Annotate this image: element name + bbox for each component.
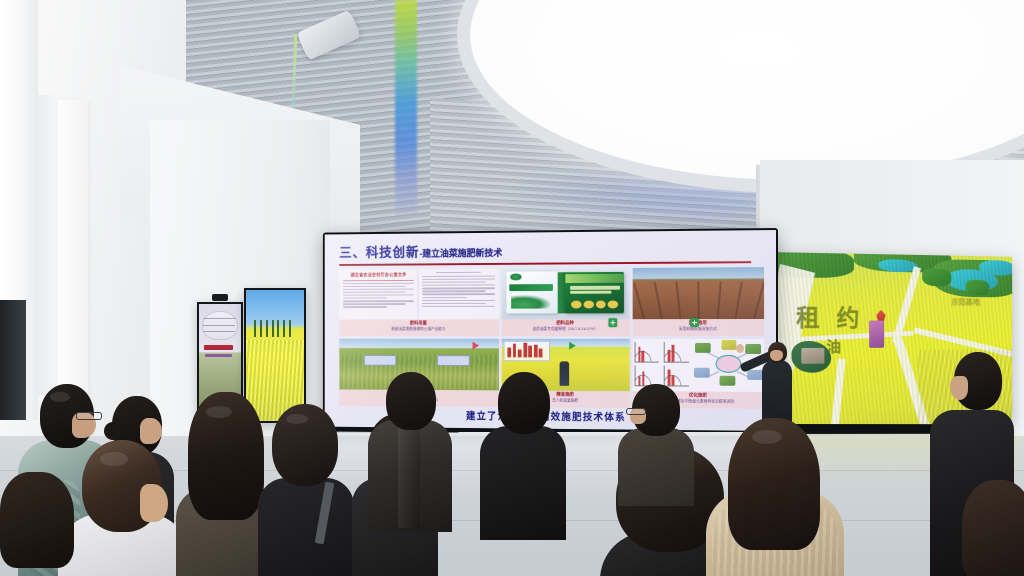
exhibition-hall-scene: 租 约 油 示范基地 三、科技创新-建立油菜施肥新技术 (0, 0, 1024, 576)
audience-member-11 (706, 418, 844, 576)
arrow-right-icon (473, 342, 480, 350)
audience-12-face (950, 376, 968, 400)
audience-member-8 (480, 372, 566, 540)
slide-panel-policy-document: 湖北省农业农村厅办公室文件 (339, 268, 498, 336)
audience-member-13 (962, 480, 1024, 576)
panel-caption: 采用机械条施深施方式 (632, 326, 764, 332)
field-character-2: 约 (837, 299, 860, 334)
presenter-face (770, 350, 783, 361)
audience-2-hair-bun (104, 422, 122, 440)
mini-chart-1 (635, 342, 659, 363)
display-camera-icon (212, 294, 228, 301)
audience-7-head (386, 372, 436, 430)
audience-member-10 (618, 384, 694, 504)
slide-title-sub: -建立油菜施肥新技术 (419, 248, 502, 259)
audience-14-head (0, 472, 74, 568)
fertilizer-bag-green (565, 272, 624, 313)
info-board-header (202, 311, 237, 341)
audience-10-jacket (618, 428, 694, 506)
plus-connector-icon (608, 318, 617, 327)
policy-document-image: 湖北省农业农村厅办公室文件 (339, 268, 498, 319)
arrow-right-icon (569, 342, 576, 350)
fertilizer-bag-image (501, 268, 629, 320)
slide-title: 三、科技创新-建立油菜施肥新技术 (339, 238, 764, 261)
field-character-1: 租 (796, 299, 819, 334)
panel-caption: 根据油菜需肥规律和土壤产出能力 (339, 326, 498, 332)
plus-connector-icon (690, 318, 699, 327)
audience-8-top (480, 426, 566, 540)
audience-member-5 (258, 404, 354, 576)
audience-8-head (498, 372, 550, 434)
info-board-title (204, 345, 233, 350)
fertilizer-bag-white (506, 271, 557, 313)
title-divider (339, 261, 750, 265)
info-board-subtitle (205, 354, 232, 357)
audience-3-face (140, 484, 168, 522)
audience-member-14 (0, 472, 74, 576)
audience-13-head (962, 480, 1024, 576)
audience-member-3 (58, 440, 188, 576)
policy-doc-header: 湖北省农业农村厅办公室文件 (343, 272, 414, 278)
audience-5-top (258, 478, 354, 576)
overlay-mini-chart (504, 341, 550, 362)
mini-chart-2 (664, 342, 689, 363)
glasses-icon (626, 408, 646, 415)
slide-title-main: 三、科技创新 (339, 245, 419, 260)
audience-7-jacket-seam (398, 428, 420, 528)
policy-document-caption: 肥料用量 根据油菜需肥规律和土壤产出能力 (339, 319, 498, 336)
wall-pillar-inner (58, 100, 88, 430)
presenter-hand (736, 344, 744, 353)
ceiling-color-reflection (395, 0, 417, 216)
audience-member-7 (368, 372, 452, 532)
soil-field-image (632, 267, 764, 320)
